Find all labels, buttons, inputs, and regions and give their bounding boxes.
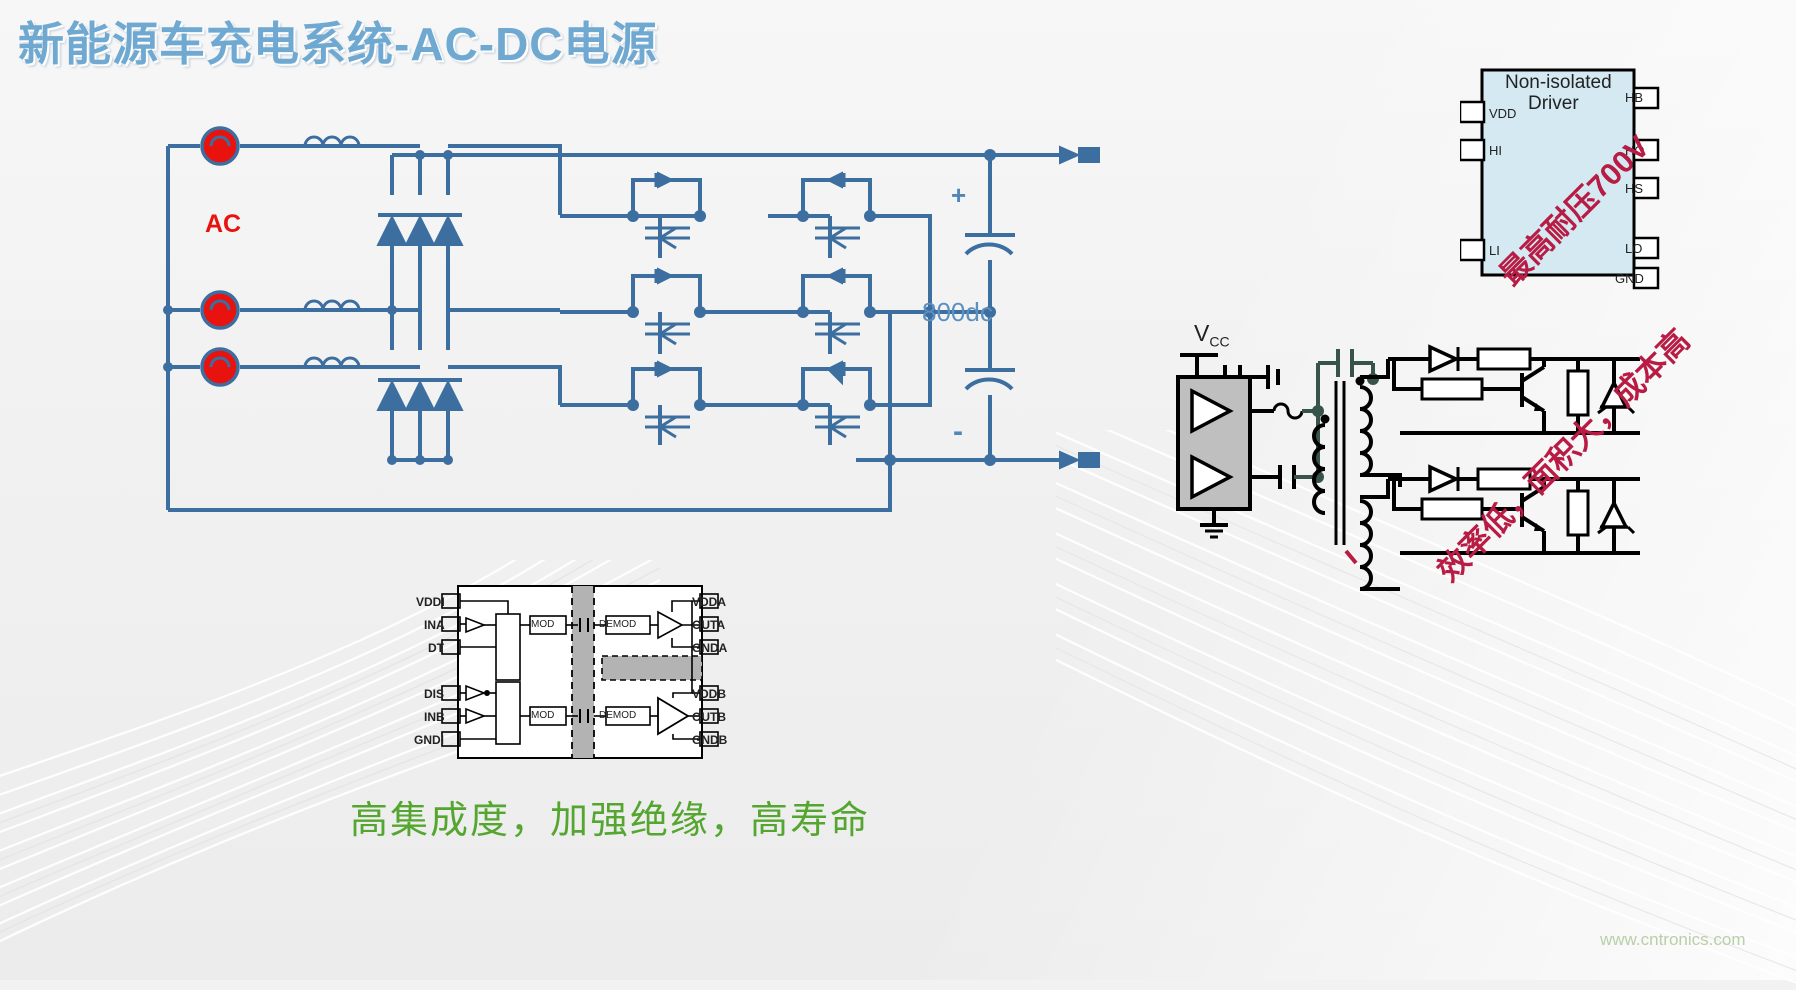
output-terminal-negative xyxy=(1010,452,1100,468)
driver-pin-hi: HI xyxy=(1489,143,1502,158)
driver-pin-lo: LO xyxy=(1625,241,1642,256)
watermark: www.cntronics.com xyxy=(1600,930,1745,950)
driver-pin-hb: HB xyxy=(1625,90,1643,105)
driver-pin-vdd: VDD xyxy=(1489,106,1516,121)
page-title: 新能源车充电系统-AC-DC电源 xyxy=(18,8,658,74)
isolator-pin-vdda: VDDA xyxy=(692,595,726,609)
ac-source-2 xyxy=(202,292,238,328)
isolator-pin-outb: OUTB xyxy=(692,710,726,724)
isolator-pin-gnda: GNDA xyxy=(692,641,727,655)
isolator-pin-dis: DIS xyxy=(424,687,444,701)
driver-chip-title-line1: Non-isolated xyxy=(1505,72,1612,94)
capacitor-top xyxy=(965,235,1015,254)
isolator-demod-a-label: DEMOD xyxy=(599,619,636,630)
driver-chip-title-line2: Driver xyxy=(1528,93,1579,115)
isolator-pin-dt: DT xyxy=(428,641,444,655)
isolator-mod-a-label: MOD xyxy=(531,619,554,630)
slide-canvas: 新能源车充电系统-AC-DC电源 .w{stroke:#3c6e9f;strok… xyxy=(0,0,1796,980)
vcc-subscript: CC xyxy=(1209,334,1229,350)
green-caption: 高集成度，加强绝缘，高寿命 xyxy=(350,789,870,844)
mosfet-q4 xyxy=(797,269,876,354)
capacitor-bottom xyxy=(965,370,1015,389)
isolator-pin-gndi: GNDI xyxy=(414,733,444,747)
vcc-main: V xyxy=(1194,320,1209,346)
mosfet-q2 xyxy=(797,173,876,258)
ac-source-1 xyxy=(202,128,238,164)
isolator-demod-b-label: DEMOD xyxy=(599,710,636,721)
isolator-pin-outa: OUTA xyxy=(692,618,725,632)
isolator-pin-vddb: VDDB xyxy=(692,687,726,701)
isolator-pin-inb: INB xyxy=(424,710,445,724)
isolator-pin-vddi: VDDI xyxy=(416,595,445,609)
dc-positive-label: + xyxy=(951,180,966,211)
mosfet-q5 xyxy=(627,362,706,445)
mosfet-q3 xyxy=(627,269,706,354)
isolator-pin-ina: INA xyxy=(424,618,445,632)
ac-source-label: AC xyxy=(205,210,241,239)
dc-negative-label: - xyxy=(953,415,963,449)
ac-source-3 xyxy=(202,349,238,385)
output-terminal-positive xyxy=(1010,147,1100,163)
dc-bus-voltage-label: 800dc xyxy=(922,297,993,328)
isolator-pin-gndb: GNDB xyxy=(692,733,727,747)
isolator-mod-b-label: MOD xyxy=(531,710,554,721)
vcc-label: VCC xyxy=(1194,320,1230,350)
driver-pin-gnd: GND xyxy=(1615,271,1644,286)
